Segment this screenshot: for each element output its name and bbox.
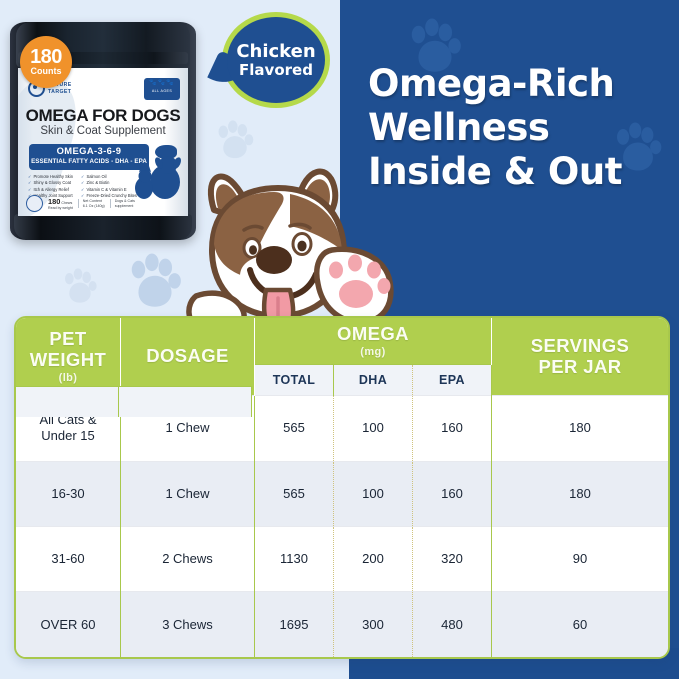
headline-line-1: Omega-Rich	[368, 62, 668, 106]
product-subtitle: Skin & Coat Supplement	[18, 125, 188, 137]
footer-use-line-2: supplement	[115, 204, 135, 209]
counts-number: 180	[20, 36, 72, 70]
label-footer: 180 Chews Read by weight Net Content 6.1…	[26, 195, 146, 212]
all-ages-badge: 🐾🐾🐾 ALL AGES	[144, 78, 180, 100]
column-header-omega: OMEGA (mg)	[255, 318, 492, 365]
cell-dha: 200	[334, 527, 413, 592]
chicken-badge-line-1: Chicken	[236, 42, 315, 61]
badge-inner: Chicken Flavored	[227, 17, 325, 103]
cell-dosage: 3 Chews	[121, 592, 255, 657]
table-head: PET WEIGHT (lb) DOSAGE OMEGA (mg) SERVIN…	[16, 318, 668, 396]
cell-pet-weight: 31-60	[16, 527, 121, 592]
column-header-servings: SERVINGS PER JAR	[492, 318, 669, 396]
subheader-blank-dosage	[16, 386, 119, 417]
dog-and-cat-illustration	[128, 154, 184, 200]
pet-weight-value-line-1: OVER 60	[17, 617, 119, 633]
servings-line-2: PER JAR	[492, 357, 668, 378]
omega-label: OMEGA	[337, 323, 409, 344]
table-row: 31-60 2 Chews 1130 200 320 90	[16, 527, 668, 592]
pet-weight-unit: (lb)	[16, 372, 120, 384]
brand-name-line-2: TARGET	[48, 89, 72, 96]
cell-total: 565	[255, 396, 334, 461]
pet-weight-value-line-1: 16-30	[17, 486, 119, 502]
cell-total: 565	[255, 461, 334, 526]
servings-line-1: SERVINGS	[492, 336, 668, 357]
column-header-dosage: DOSAGE	[121, 318, 255, 396]
cell-epa: 160	[413, 461, 492, 526]
column-header-pet-weight: PET WEIGHT (lb)	[16, 318, 121, 396]
footer-count-number: 180	[48, 197, 60, 206]
footer-count-block: 180 Chews Read by weight	[48, 197, 73, 210]
subheader-dha: DHA	[334, 365, 413, 396]
table-row: 16-30 1 Chew 565 100 160 180	[16, 461, 668, 526]
dosage-table: PET WEIGHT (lb) DOSAGE OMEGA (mg) SERVIN…	[16, 318, 668, 657]
product-jar: NATURE TARGET 🐾🐾🐾 ALL AGES OMEGA FOR DOG…	[10, 22, 196, 240]
dosage-table-container: PET WEIGHT (lb) DOSAGE OMEGA (mg) SERVIN…	[14, 316, 670, 659]
cell-dosage: 2 Chews	[121, 527, 255, 592]
footer-net-label: Net Content	[83, 199, 105, 204]
cell-dha: 100	[334, 396, 413, 461]
cell-epa: 160	[413, 396, 492, 461]
subheader-epa: EPA	[413, 365, 492, 396]
infographic-canvas: Omega-Rich Wellness Inside & Out NATURE …	[0, 0, 679, 679]
cell-pet-weight: OVER 60	[16, 592, 121, 657]
benefit-item: Shiny & Glossy Coat	[28, 180, 73, 186]
footer-count-unit: Chews	[61, 201, 72, 205]
table-row: OVER 60 3 Chews 1695 300 480 60	[16, 592, 668, 657]
chicken-flavored-badge: Chicken Flavored	[222, 12, 330, 108]
omega-unit: (mg)	[255, 346, 491, 358]
cell-epa: 480	[413, 592, 492, 657]
counts-badge: 180 Counts	[20, 36, 72, 88]
paw-row-icon: 🐾🐾🐾	[144, 78, 180, 89]
cell-dha: 100	[334, 461, 413, 526]
dog-mascot-illustration	[178, 158, 398, 338]
cell-total: 1130	[255, 527, 334, 592]
subheader-total: TOTAL	[255, 365, 334, 396]
footer-net-block: Net Content 6.1 Oz (140g)	[78, 199, 105, 209]
product-title: OMEGA FOR DOGS	[18, 106, 188, 126]
pet-weight-line-1: PET	[16, 329, 120, 350]
footer-net-value: 6.1 Oz (140g)	[83, 204, 105, 209]
cell-servings: 180	[492, 396, 669, 461]
pet-weight-value-line-1: 31-60	[17, 551, 119, 567]
table-header-row: PET WEIGHT (lb) DOSAGE OMEGA (mg) SERVIN…	[16, 318, 668, 365]
cell-servings: 90	[492, 527, 669, 592]
footer-use-line-1: Dogs & Cats	[115, 199, 135, 204]
headline: Omega-Rich Wellness Inside & Out	[368, 62, 668, 194]
jar-label: NATURE TARGET 🐾🐾🐾 ALL AGES OMEGA FOR DOG…	[18, 68, 188, 216]
dosage-label: DOSAGE	[146, 345, 229, 366]
cell-servings: 180	[492, 461, 669, 526]
table-body: All Cats & Under 15 1 Chew 565 100 160 1…	[16, 396, 668, 657]
all-ages-label: ALL AGES	[144, 89, 180, 93]
quality-seal-icon	[26, 195, 43, 212]
pet-weight-line-2: WEIGHT	[16, 350, 120, 371]
cell-pet-weight: 16-30	[16, 461, 121, 526]
headline-line-3: Inside & Out	[368, 150, 668, 194]
cell-total: 1695	[255, 592, 334, 657]
jar-base	[14, 214, 192, 240]
headline-line-2: Wellness	[368, 106, 668, 150]
pet-weight-value-line-2: Under 15	[17, 428, 119, 444]
footer-use-block: Dogs & Cats supplement	[110, 199, 135, 209]
footer-count-sub: Read by weight	[48, 206, 73, 210]
cell-epa: 320	[413, 527, 492, 592]
cell-servings: 60	[492, 592, 669, 657]
cell-dosage: 1 Chew	[121, 461, 255, 526]
chicken-badge-line-2: Flavored	[239, 61, 313, 79]
counts-label: Counts	[20, 66, 72, 76]
cell-dha: 300	[334, 592, 413, 657]
